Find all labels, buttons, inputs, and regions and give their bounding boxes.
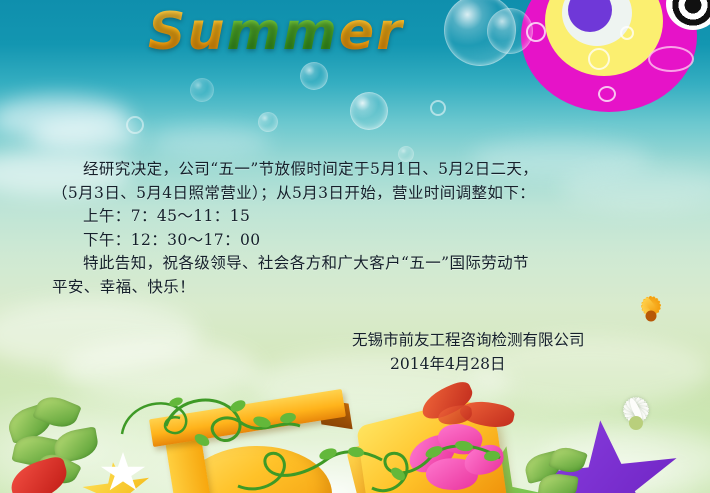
bubble <box>444 0 516 66</box>
bubble <box>258 112 278 132</box>
bubble-ring <box>588 48 610 70</box>
numeral-5-bowl <box>182 446 332 493</box>
notice-line-3-morning-hours: 上午：7：45～11：15 <box>52 205 672 229</box>
cloud-puff <box>0 300 200 370</box>
concentric-circle-yellow <box>545 0 663 76</box>
purple-star-decoration <box>526 413 689 493</box>
wordmark-letter-s: S <box>148 6 187 58</box>
bubble-ring <box>598 86 616 102</box>
green-leaf-cluster-mid <box>525 448 615 493</box>
summer-holiday-notice-poster: Summer 经研究决定，公司“五一”节放假时间定于5月1日、5月2日二天， （… <box>0 0 710 493</box>
wordmark-letter-m1: m <box>226 6 282 58</box>
pink-flower-decoration <box>404 422 514 493</box>
notice-line-4-afternoon-hours: 下午：12：30～17：00 <box>52 229 672 253</box>
notice-line-5: 特此告知，祝各级领导、社会各方和广大客户“五一”国际劳动节 <box>52 252 672 276</box>
bubble-ring <box>126 116 144 134</box>
notice-body: 经研究决定，公司“五一”节放假时间定于5月1日、5月2日二天， （5月3日、5月… <box>52 158 672 299</box>
bubble-ring <box>620 26 634 40</box>
bubble <box>300 62 328 90</box>
concentric-circle-purple <box>568 0 612 32</box>
bubble-ring <box>430 100 446 116</box>
vine-swirl-left <box>158 388 348 478</box>
lime-arc-decoration <box>596 0 710 34</box>
bubble-ring <box>648 46 694 72</box>
numeral-5-bar <box>149 389 346 447</box>
concentric-circle-magenta <box>521 0 697 112</box>
cloud-puff <box>0 96 130 140</box>
spiral-decoration <box>666 0 710 30</box>
notice-line-6: 平安、幸福、快乐！ <box>52 276 672 300</box>
signature-date: 2014年4月28日 <box>352 352 585 376</box>
bubble-ring <box>526 22 546 42</box>
white-daisy-flower <box>598 385 674 461</box>
notice-line-2: （5月3日、5月4日照常营业）；从5月3日开始，营业时间调整如下： <box>52 182 672 206</box>
green-star-decoration <box>420 433 570 493</box>
company-name: 无锡市前友工程咨询检测有限公司 <box>352 328 585 352</box>
cloud-puff <box>60 340 260 400</box>
signature-block: 无锡市前友工程咨询检测有限公司 2014年4月28日 <box>352 328 585 376</box>
numeral-5-bar-side <box>317 399 352 430</box>
vine-swirl-top <box>118 390 238 450</box>
wordmark-letter-r: r <box>376 6 404 58</box>
cloud-puff <box>30 118 140 152</box>
green-leaf-cluster-left <box>8 398 128 484</box>
cloud-puff <box>150 126 270 156</box>
vine-swirl-far-right <box>236 436 386 493</box>
wordmark-letter-m2: m <box>283 6 339 58</box>
bubble <box>350 92 388 130</box>
summer-wordmark: Summer <box>148 6 404 58</box>
wordmark-letter-e: e <box>339 6 376 58</box>
numeral-3-shadow <box>346 432 428 493</box>
yellow-star-decoration <box>78 457 155 493</box>
bubble <box>487 8 533 54</box>
wordmark-letter-u: u <box>187 6 226 58</box>
vine-swirl-right <box>368 428 528 493</box>
red-petal-decoration <box>6 455 72 493</box>
bubble <box>190 78 214 102</box>
concentric-circle-white <box>562 0 632 46</box>
white-star-decoration <box>100 452 146 493</box>
cloud-puff <box>540 430 710 486</box>
numeral-5-stem <box>162 416 210 493</box>
butterfly-decoration <box>420 386 516 442</box>
notice-line-1: 经研究决定，公司“五一”节放假时间定于5月1日、5月2日二天， <box>52 158 672 182</box>
numeral-3-decoration <box>356 393 507 493</box>
